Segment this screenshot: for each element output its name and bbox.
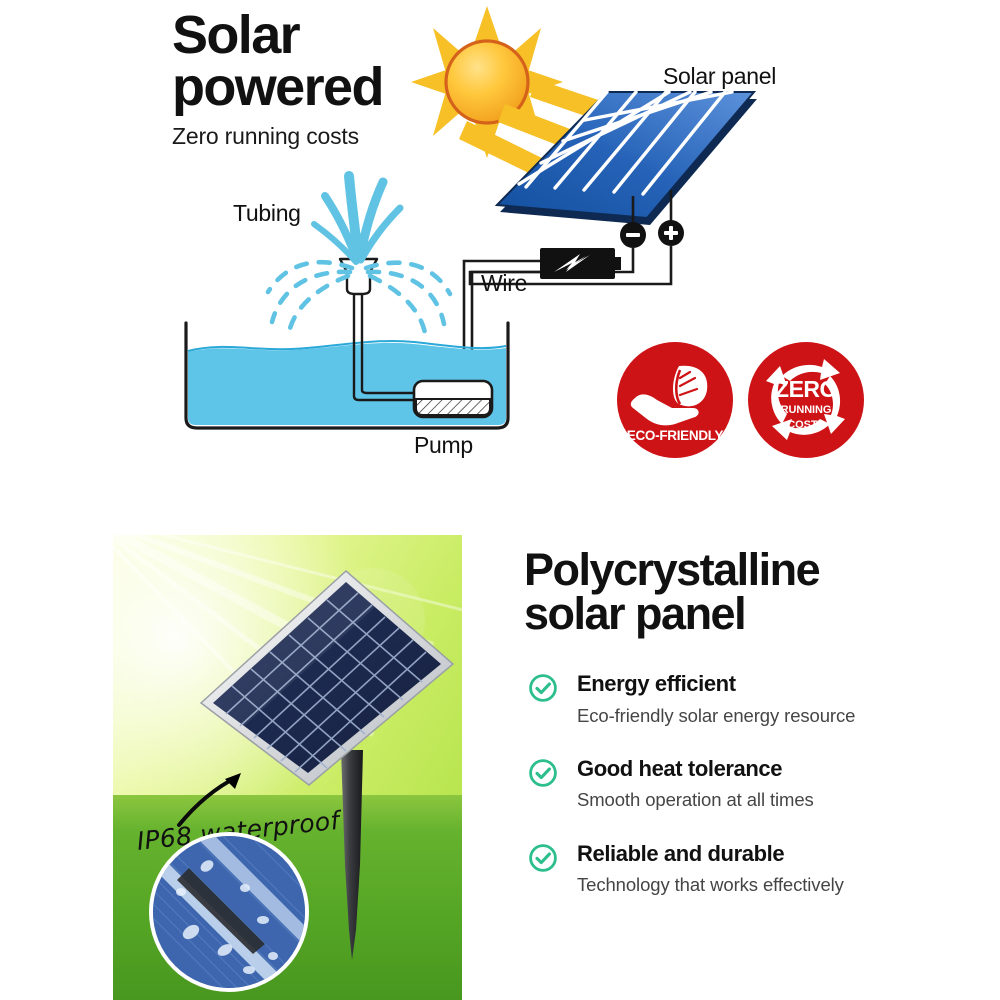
check-circle-icon xyxy=(528,758,558,788)
badge-zero-label-group: ZERO RUNNING COSTS xyxy=(748,378,864,432)
feature-item: Good heat tolerance Smooth operation at … xyxy=(524,756,944,813)
feature-description: Eco-friendly solar energy resource xyxy=(577,704,944,728)
feature-description: Technology that works effectively xyxy=(577,873,944,897)
label-pump: Pump xyxy=(414,432,473,459)
pump-device xyxy=(414,381,492,417)
feature-item: Reliable and durable Technology that wor… xyxy=(524,841,944,898)
label-wire: Wire xyxy=(481,270,527,297)
waterproof-closeup-inset xyxy=(149,832,309,992)
badge-zero-running-costs: ZERO RUNNING COSTS xyxy=(748,342,864,458)
feature-column: Polycrystalline solar panel Energy effic… xyxy=(524,548,944,897)
ground-stake xyxy=(341,750,363,960)
badge-zero-sub-label-2: COSTS xyxy=(748,419,864,431)
badge-eco-friendly-label: ECO-FRIENDLY xyxy=(617,428,733,443)
feature-item: Energy efficient Eco-friendly solar ener… xyxy=(524,671,944,728)
connector-box-icon xyxy=(540,248,621,279)
water-droplets-closeup-icon xyxy=(153,836,305,988)
feature-list: Energy efficient Eco-friendly solar ener… xyxy=(524,671,944,897)
solar-powered-section: Solar powered Zero running costs xyxy=(0,0,1000,500)
feature-title: Energy efficient xyxy=(577,671,944,696)
bottom-heading-line2: solar panel xyxy=(524,592,944,636)
label-solar-panel: Solar panel xyxy=(663,63,776,90)
feature-description: Smooth operation at all times xyxy=(577,788,944,812)
product-photo: IP68 waterproof xyxy=(113,535,462,1000)
badge-group: ECO-FRIENDLY ZERO RUNNING COSTS xyxy=(617,342,867,458)
badge-zero-sub-label-1: RUNNING xyxy=(748,404,864,416)
feature-title: Reliable and durable xyxy=(577,841,944,866)
feature-title: Good heat tolerance xyxy=(577,756,944,781)
infographic-page: Solar powered Zero running costs xyxy=(0,0,1000,1000)
badge-eco-friendly: ECO-FRIENDLY xyxy=(617,342,733,458)
bottom-heading-line1: Polycrystalline xyxy=(524,548,944,592)
label-tubing: Tubing xyxy=(233,200,301,227)
polycrystalline-section: IP68 waterproof xyxy=(0,500,1000,1000)
check-circle-icon xyxy=(528,843,558,873)
check-circle-icon xyxy=(528,673,558,703)
badge-zero-main-label: ZERO xyxy=(748,378,864,401)
